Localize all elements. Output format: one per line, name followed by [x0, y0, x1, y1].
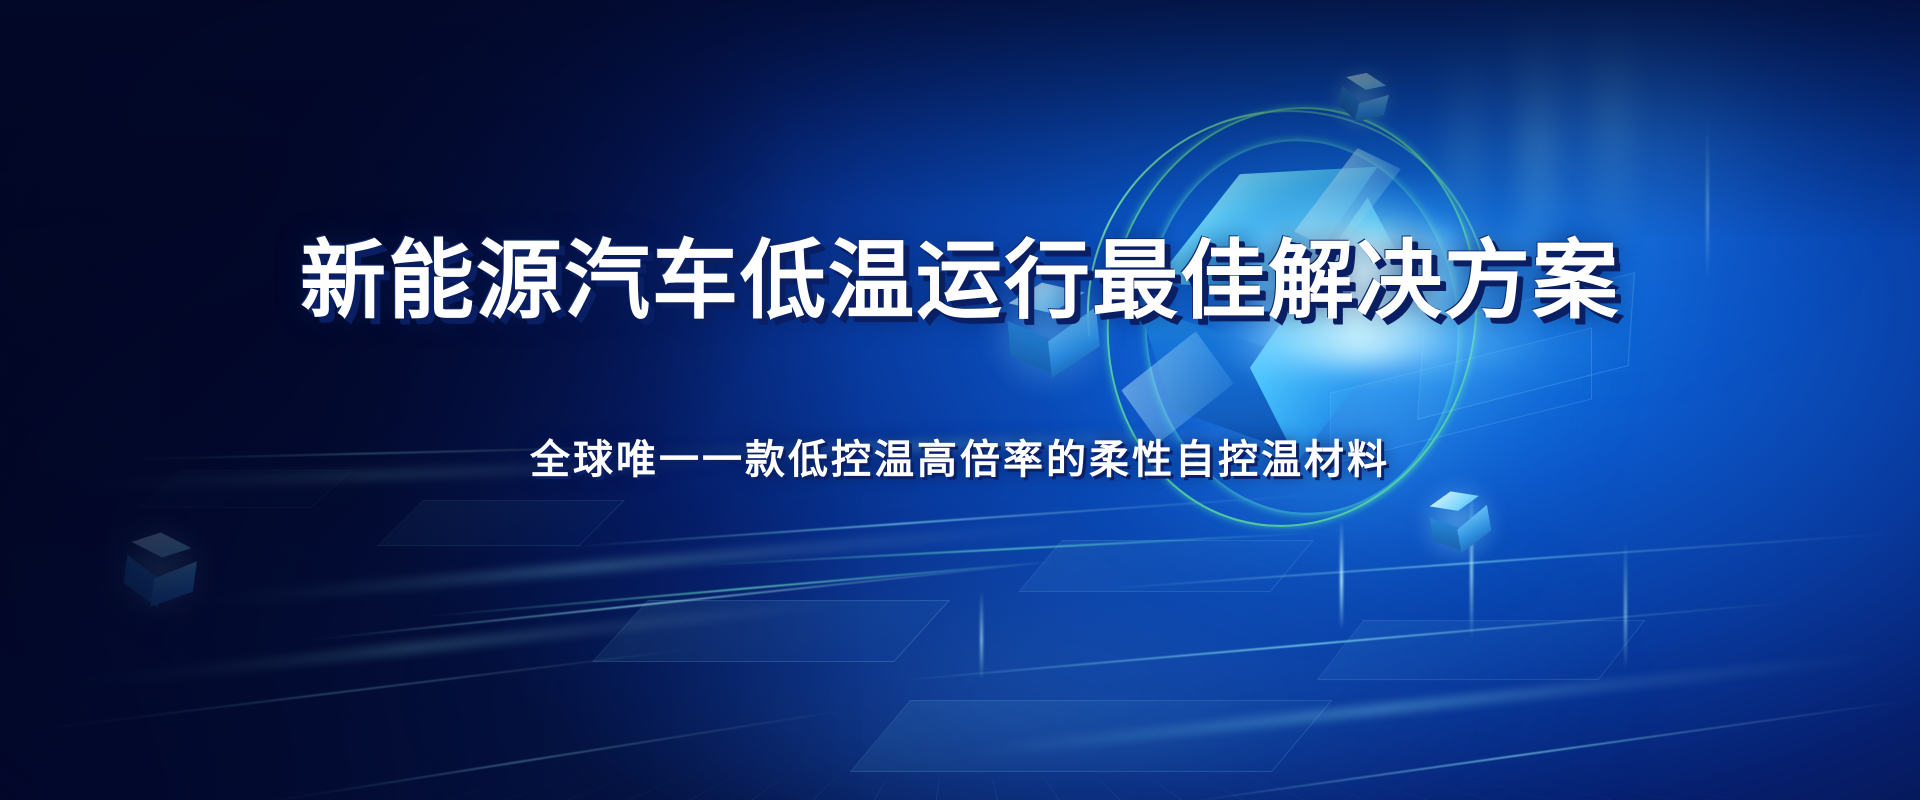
hero-banner: 新能源汽车低温运行最佳解决方案 全球唯一一款低控温高倍率的柔性自控温材料: [0, 0, 1920, 800]
text-layer: 新能源汽车低温运行最佳解决方案 全球唯一一款低控温高倍率的柔性自控温材料: [0, 0, 1920, 800]
page-title: 新能源汽车低温运行最佳解决方案: [0, 238, 1920, 324]
page-subtitle: 全球唯一一款低控温高倍率的柔性自控温材料: [0, 440, 1920, 480]
